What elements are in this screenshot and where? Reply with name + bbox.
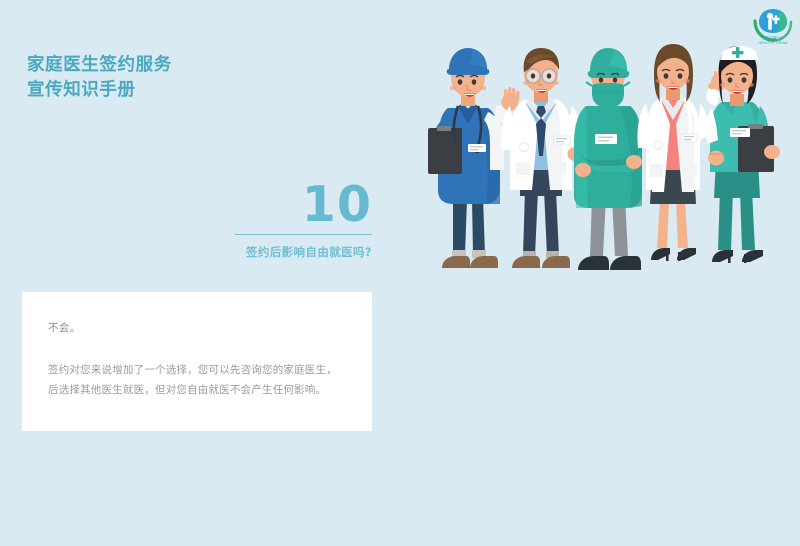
figure-doctor-female — [637, 44, 710, 261]
figure-doctor-male — [501, 48, 582, 268]
question-block: 10 签约后影响自由就医吗? — [150, 182, 372, 260]
question-text: 签约后影响自由就医吗? — [150, 244, 372, 260]
figure-surgeon-masked — [574, 48, 642, 270]
page-title-line2: 宣传知识手册 — [27, 78, 172, 103]
answer-card: 不会。 签约对您来说增加了一个选择，您可以先咨询您的家庭医生， 后选择其他医生就… — [22, 292, 372, 431]
answer-body: 签约对您来说增加了一个选择，您可以先咨询您的家庭医生， 后选择其他医生就医，但对… — [48, 360, 346, 401]
figure-surgeon-blue — [428, 48, 519, 268]
answer-body-line2: 后选择其他医生就医，但对您自由就医不会产生任何影响。 — [48, 380, 346, 400]
five-medical-staff-group — [420, 40, 800, 290]
answer-body-line1: 签约对您来说增加了一个选择，您可以先咨询您的家庭医生， — [48, 360, 346, 380]
page-title-line1: 家庭医生签约服务 — [27, 53, 172, 78]
question-number: 10 — [150, 182, 372, 229]
answer-lead: 不会。 — [48, 320, 346, 335]
figure-nurse — [706, 46, 780, 263]
poster-page: 健康中国行动 HEALTHY CHINA 家庭医生签约服务 宣传知识手册 10 … — [0, 0, 800, 546]
divider-rule — [235, 234, 372, 236]
page-title: 家庭医生签约服务 宣传知识手册 — [27, 53, 172, 103]
